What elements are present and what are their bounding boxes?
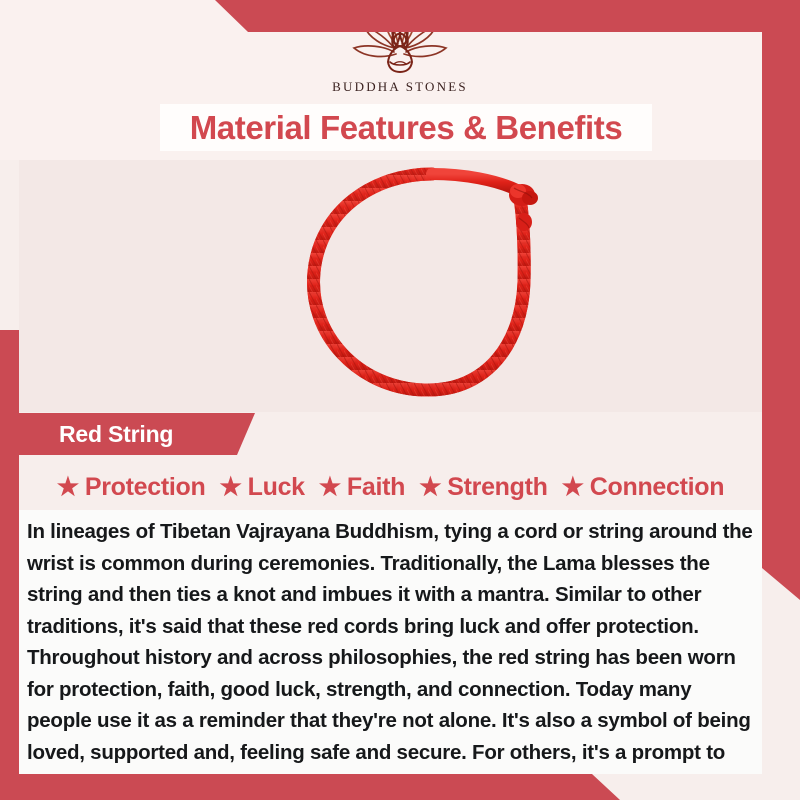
infographic-poster: BUDDHA STONES Material Features & Benefi… [0, 0, 800, 800]
benefit-item-faith: ★ Faith [312, 473, 412, 502]
product-image-panel [19, 160, 762, 412]
benefit-label: Connection [590, 473, 725, 502]
red-string-bracelet-image [274, 162, 574, 412]
star-icon: ★ [57, 475, 79, 500]
material-name-banner: Red String [19, 413, 255, 455]
star-icon: ★ [419, 475, 441, 500]
benefits-row: ★ Protection ★ Luck ★ Faith ★ Strength ★… [19, 466, 762, 508]
benefit-label: Strength [447, 473, 547, 502]
brand-wordmark: BUDDHA STONES [332, 79, 468, 95]
benefit-label: Luck [248, 473, 305, 502]
benefit-label: Faith [347, 473, 405, 502]
description-panel: In lineages of Tibetan Vajrayana Buddhis… [19, 510, 762, 774]
benefit-item-luck: ★ Luck [213, 473, 312, 502]
left-accent-band [0, 330, 19, 800]
benefit-label: Protection [85, 473, 206, 502]
benefit-item-strength: ★ Strength [412, 473, 555, 502]
star-icon: ★ [319, 475, 341, 500]
material-name-label: Red String [59, 421, 173, 448]
star-icon: ★ [562, 475, 584, 500]
benefit-item-connection: ★ Connection [555, 473, 732, 502]
title-strip: Material Features & Benefits [160, 104, 652, 151]
benefit-item-protection: ★ Protection [50, 473, 213, 502]
page-title: Material Features & Benefits [190, 109, 623, 147]
right-accent-band [762, 0, 800, 600]
description-text: In lineages of Tibetan Vajrayana Buddhis… [19, 516, 762, 800]
star-icon: ★ [220, 475, 242, 500]
